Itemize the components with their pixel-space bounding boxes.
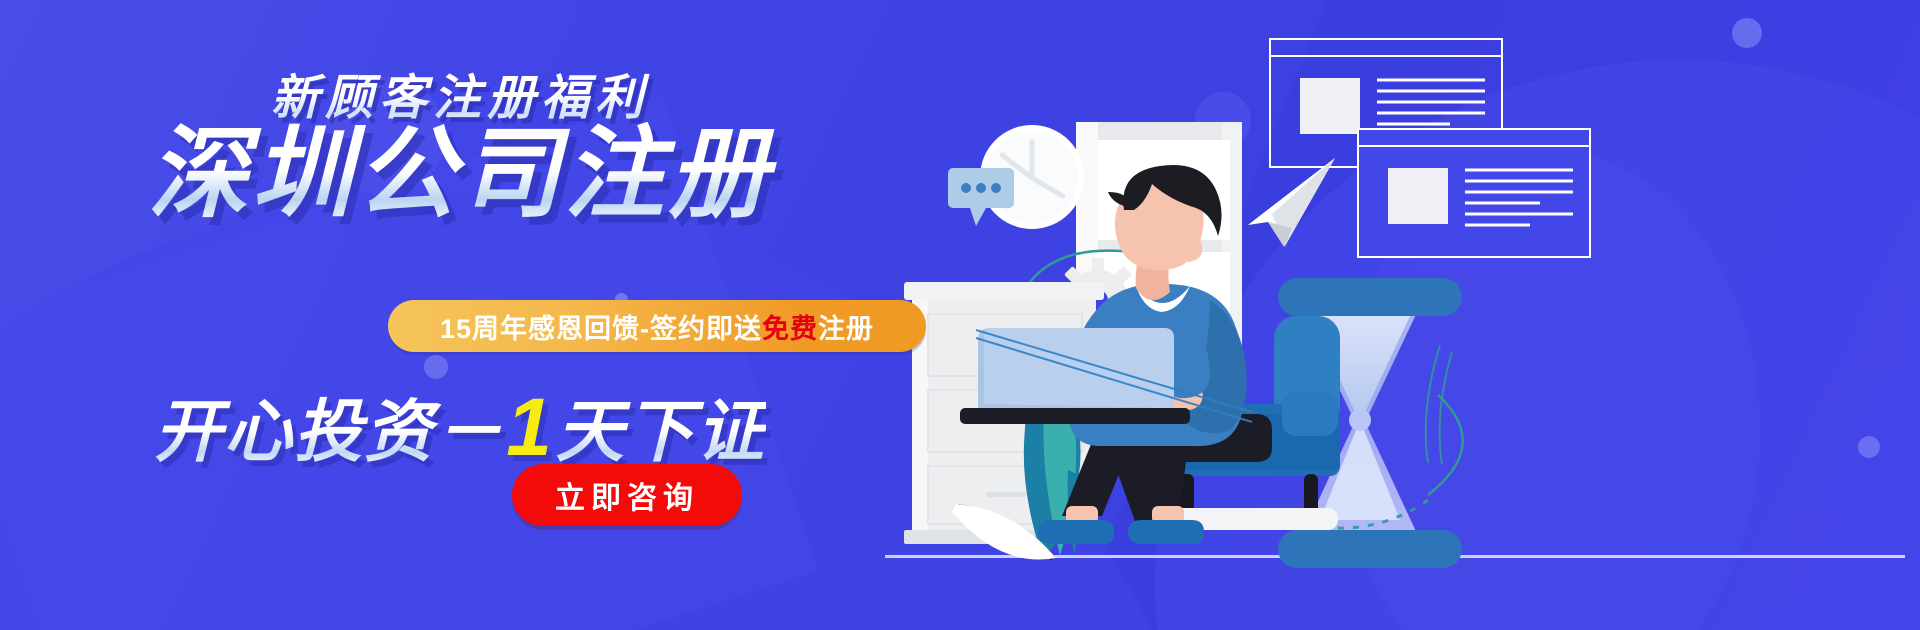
paper-plane-icon [1248,158,1335,247]
promo-prefix: 15周年感恩回馈-签约即送 [440,307,762,346]
promo-suffix: 注册 [818,307,874,346]
subline-number: 1 [504,382,556,473]
document-card-bottom [1358,129,1590,257]
promo-badge: 15周年感恩回馈-签约即送免费注册 [388,300,926,352]
page-title: 深圳公司注册 [0,122,920,227]
subline-before: 开心投资－ [154,394,504,470]
promo-highlight: 免费 [762,307,818,346]
copy-block: 新顾客注册福利 深圳公司注册 15周年感恩回馈-签约即送免费注册 开心投资－1天… [0,0,980,630]
promo-banner: 新顾客注册福利 深圳公司注册 15周年感恩回馈-签约即送免费注册 开心投资－1天… [0,0,1920,630]
subline-after: 天下证 [556,394,766,470]
consult-now-button[interactable]: 立即咨询 [512,464,742,526]
sub-headline: 开心投资－1天下证 [0,376,920,475]
illustration [880,0,1920,630]
